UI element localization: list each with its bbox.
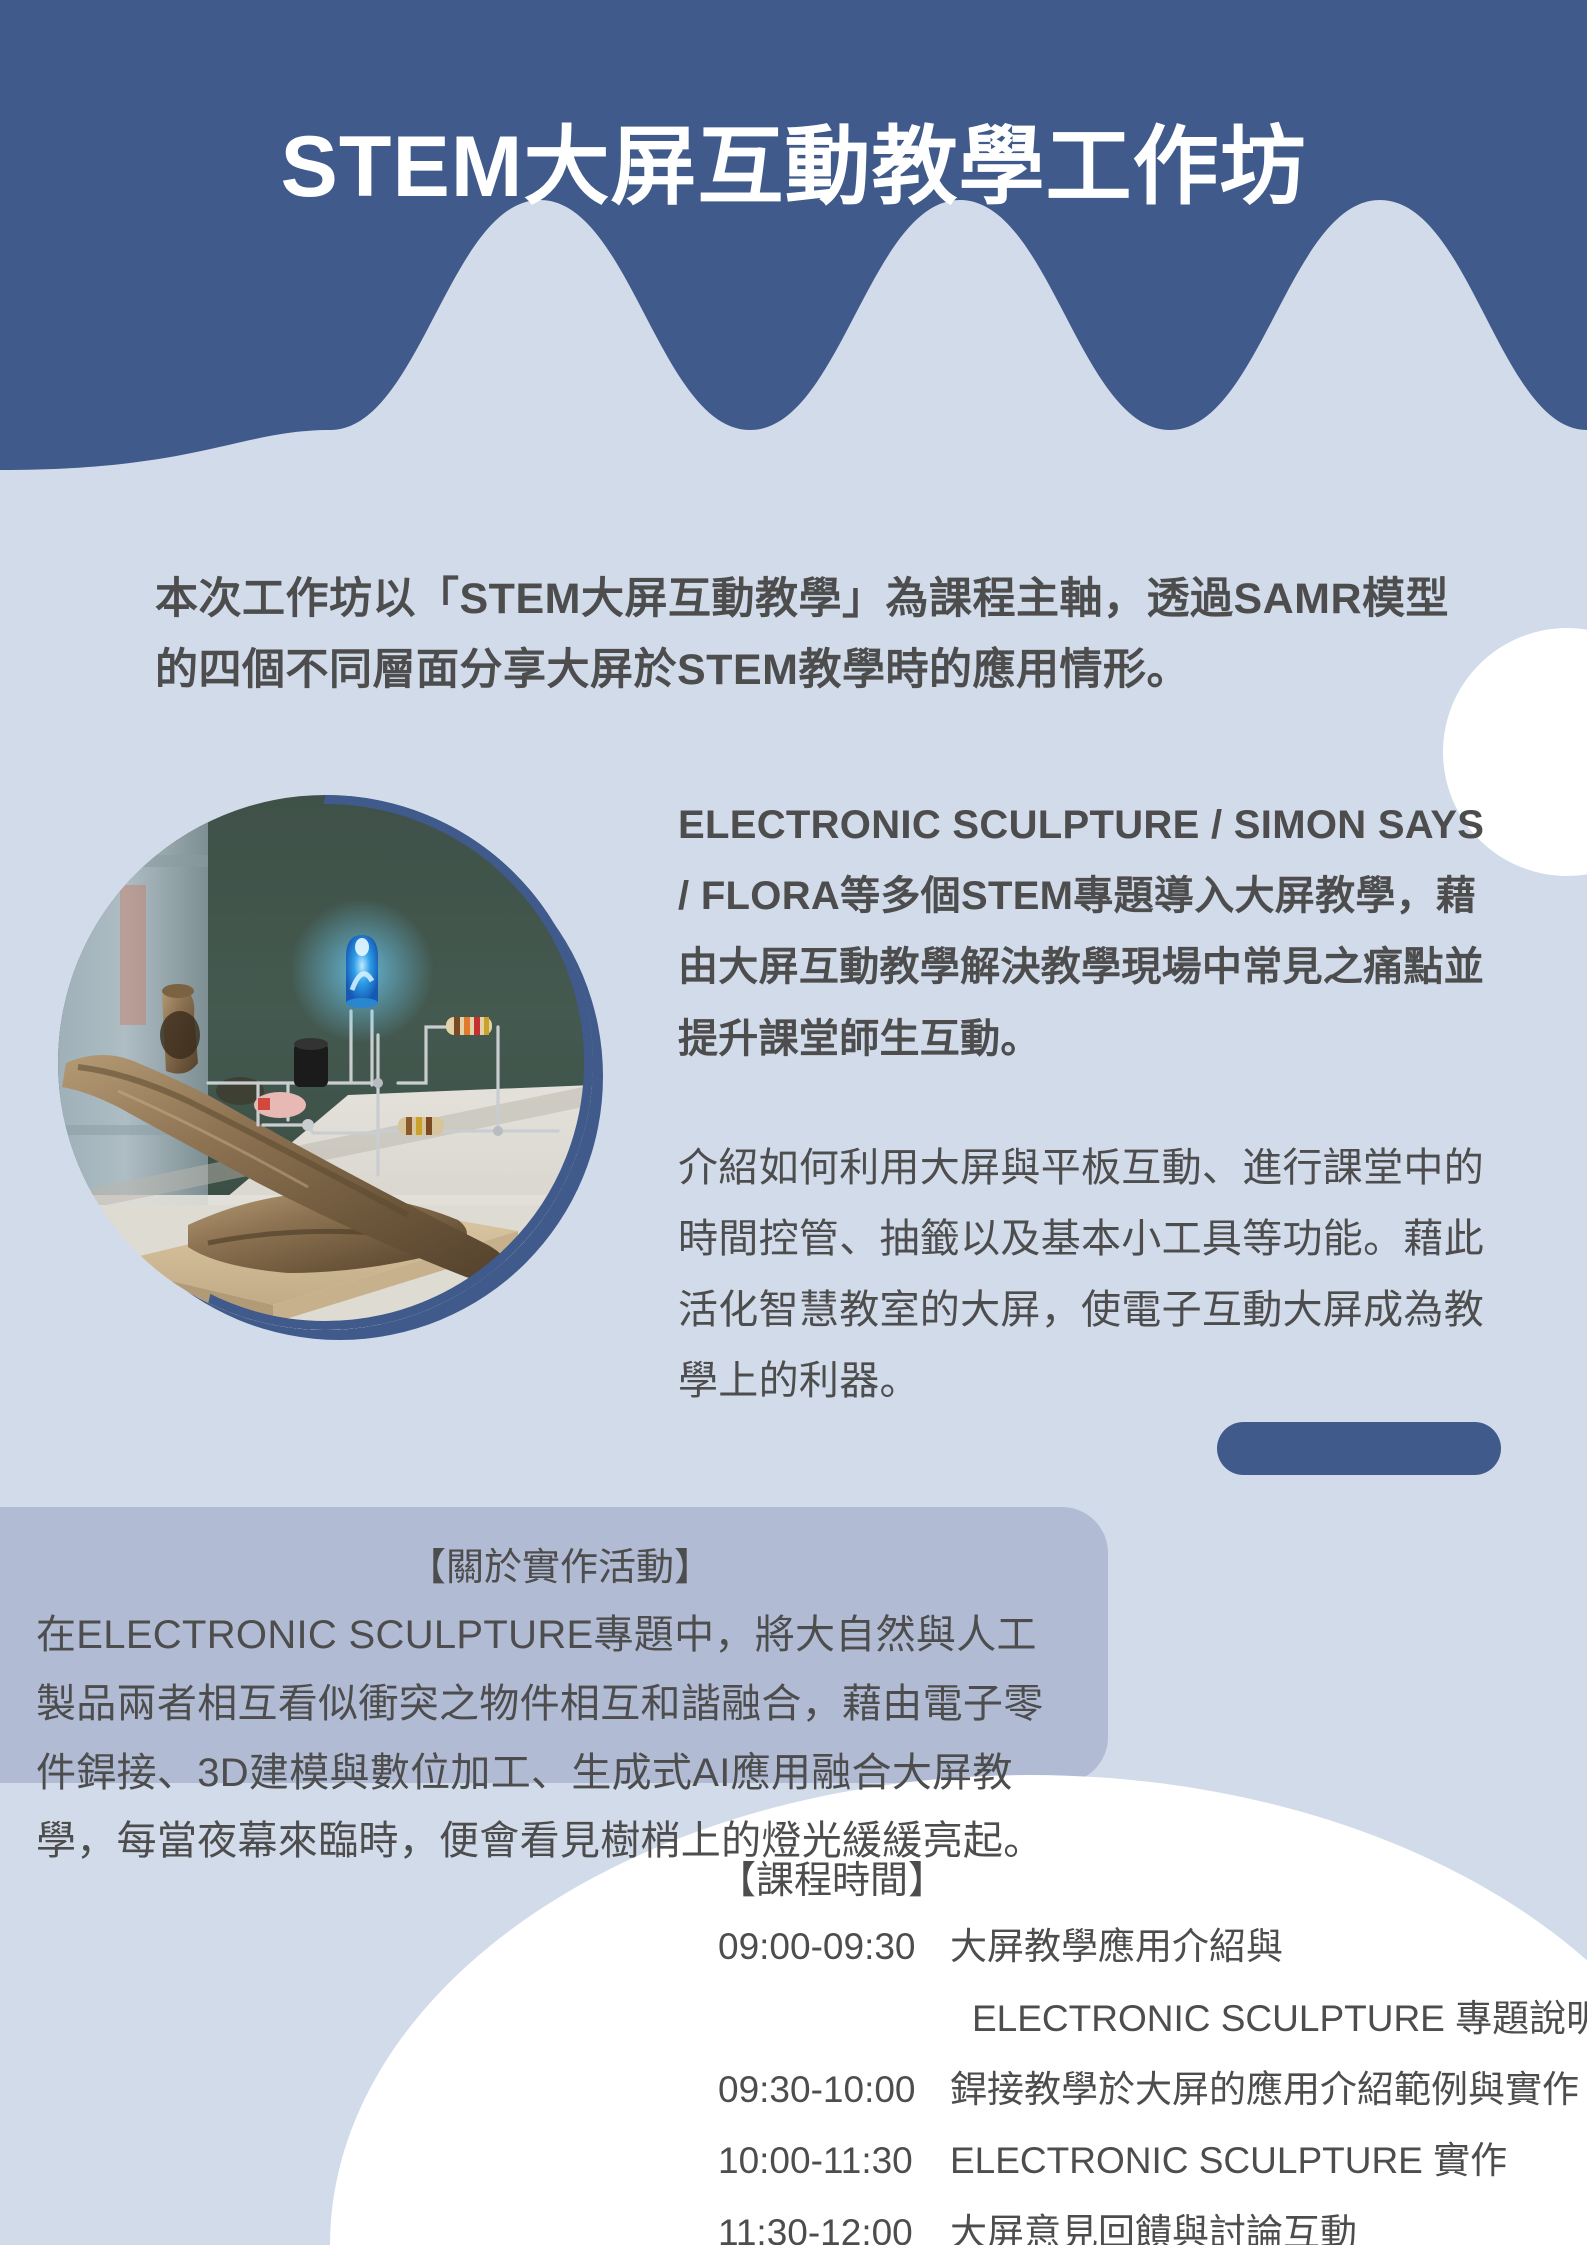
poster-canvas: STEM大屏互動教學工作坊 本次工作坊以「STEM大屏互動教學」為課程主軸，透過… — [0, 0, 1587, 2245]
right-paragraph-2: 介紹如何利用大屏與平板互動、進行課堂中的時間控管、抽籤以及基本小工具等功能。藉此… — [678, 1133, 1488, 1418]
schedule-row: 11:30-12:00大屏意見回饋與討論互動 — [718, 2204, 1578, 2245]
schedule-time: 09:30-10:00 — [718, 2061, 950, 2118]
schedule-description: 大屏意見回饋與討論互動 — [950, 2204, 1578, 2245]
schedule-title: 【課程時間】 — [718, 1855, 1578, 1908]
page-title: STEM大屏互動教學工作坊 — [0, 120, 1587, 215]
schedule-description: ELECTRONIC SCULPTURE 專題說明 — [950, 1990, 1587, 2047]
schedule-time: 09:00-09:30 — [718, 1918, 950, 1975]
schedule-time: 10:00-11:30 — [718, 2132, 950, 2189]
schedule-rows: 09:00-09:30大屏教學應用介紹與09:00-09:30ELECTRONI… — [718, 1918, 1578, 2245]
intro-paragraph: 本次工作坊以「STEM大屏互動教學」為課程主軸，透過SAMR模型的四個不同層面分… — [155, 564, 1465, 706]
schedule-row: 09:00-09:30ELECTRONIC SCULPTURE 專題說明 — [718, 1990, 1578, 2047]
practice-activity-body: 在ELECTRONIC SCULPTURE專題中，將大自然與人工製品兩者相互看似… — [0, 1601, 1090, 1876]
schedule-description: 銲接教學於大屏的應用介紹範例與實作 — [950, 2061, 1579, 2118]
schedule-row: 09:00-09:30大屏教學應用介紹與 — [718, 1918, 1578, 1975]
schedule-row: 10:00-11:30ELECTRONIC SCULPTURE 實作 — [718, 2132, 1578, 2189]
electronic-sculpture-photo — [58, 795, 593, 1330]
header-wave-shape — [0, 0, 1587, 480]
schedule-description: ELECTRONIC SCULPTURE 實作 — [950, 2132, 1578, 2189]
header-wave-band — [0, 0, 1587, 480]
schedule-row: 09:30-10:00銲接教學於大屏的應用介紹範例與實作 — [718, 2061, 1578, 2118]
decorative-pill — [1217, 1422, 1501, 1475]
right-paragraph-1: ELECTRONIC SCULPTURE / SIMON SAYS / FLOR… — [678, 790, 1488, 1075]
practice-activity-block: 【關於實作活動】 在ELECTRONIC SCULPTURE專題中，將大自然與人… — [0, 1540, 1090, 1876]
practice-activity-title: 【關於實作活動】 — [0, 1540, 1090, 1597]
schedule-description: 大屏教學應用介紹與 — [950, 1918, 1578, 1975]
schedule-time: 11:30-12:00 — [718, 2204, 950, 2245]
photo-artwork — [58, 795, 593, 1330]
schedule-block: 【課程時間】 09:00-09:30大屏教學應用介紹與09:00-09:30EL… — [718, 1855, 1578, 2245]
right-text-column: ELECTRONIC SCULPTURE / SIMON SAYS / FLOR… — [678, 790, 1488, 1418]
